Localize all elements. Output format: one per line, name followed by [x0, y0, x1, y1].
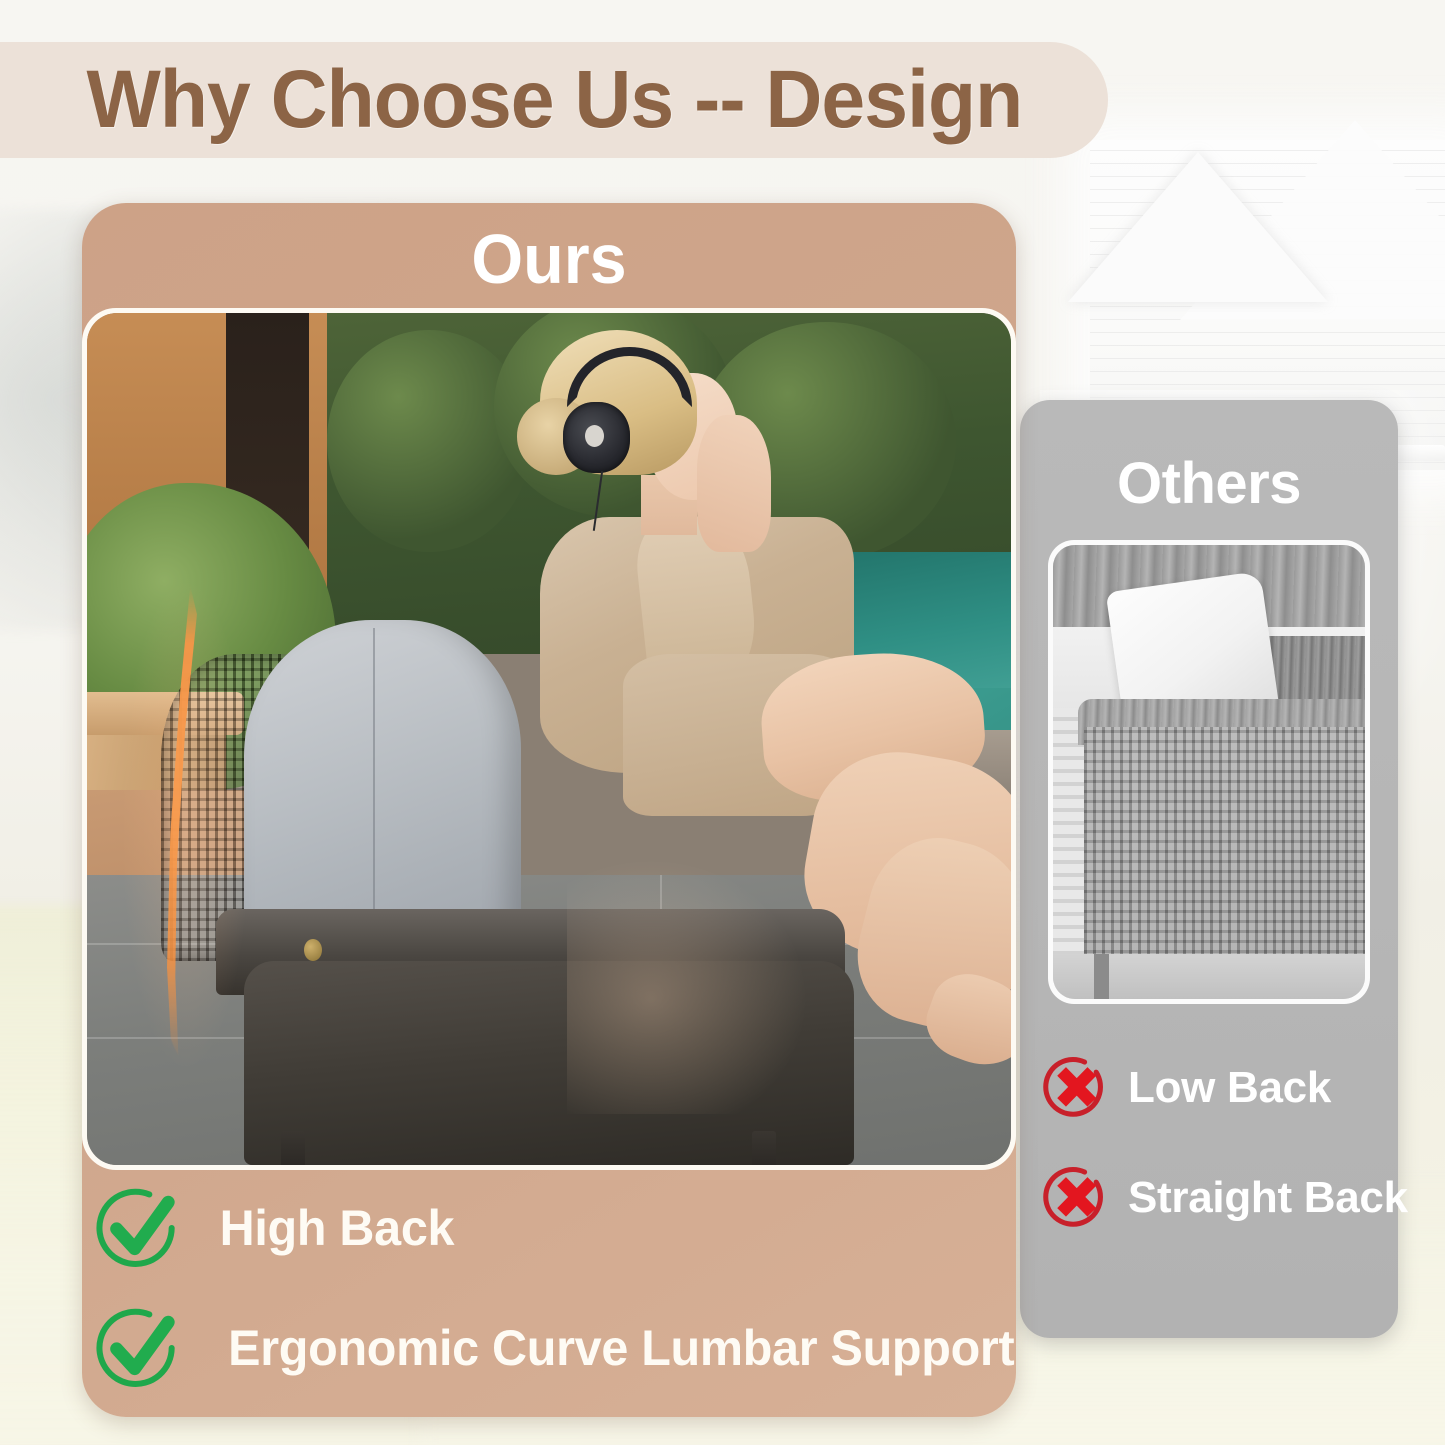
ours-feature-row: Ergonomic Curve Lumbar Support	[96, 1305, 1027, 1391]
x-circle-icon	[1040, 1052, 1112, 1124]
others-photo-sofa-body	[1084, 727, 1365, 963]
ours-product-photo	[87, 313, 1011, 1165]
photo-cushion-seam	[373, 628, 375, 952]
ours-feature-label: Ergonomic Curve Lumbar Support	[228, 1319, 1014, 1377]
photo-chair-leg	[752, 1131, 776, 1165]
infographic-canvas: Why Choose Us -- Design Others	[0, 0, 1445, 1445]
check-circle-icon	[96, 1185, 182, 1271]
others-panel-title: Others	[1020, 450, 1398, 517]
photo-model-arm	[697, 415, 771, 551]
others-feature-row: Low Back	[1040, 1052, 1331, 1124]
title-banner: Why Choose Us -- Design	[0, 42, 1108, 158]
photo-chair-leg	[281, 1131, 305, 1165]
check-circle-icon	[96, 1305, 182, 1391]
ours-photo-frame	[82, 308, 1016, 1170]
ours-feature-label: High Back	[220, 1199, 455, 1257]
page-title: Why Choose Us -- Design	[86, 53, 1022, 147]
others-feature-label: Low Back	[1128, 1063, 1331, 1113]
others-photo-frame	[1048, 540, 1370, 1004]
photo-chair-bolt	[304, 939, 322, 961]
others-feature-row: Straight Back	[1040, 1162, 1408, 1234]
x-circle-icon	[1040, 1162, 1112, 1234]
others-photo-sofa-foot	[1094, 954, 1110, 999]
ours-panel-title: Ours	[105, 217, 992, 301]
armrest-highlight	[567, 858, 807, 1114]
others-product-photo	[1053, 545, 1365, 999]
headphone-logo	[585, 425, 604, 447]
others-feature-label: Straight Back	[1128, 1173, 1408, 1223]
ours-feature-row: High Back	[96, 1185, 458, 1271]
background-house-gable	[1068, 152, 1328, 302]
